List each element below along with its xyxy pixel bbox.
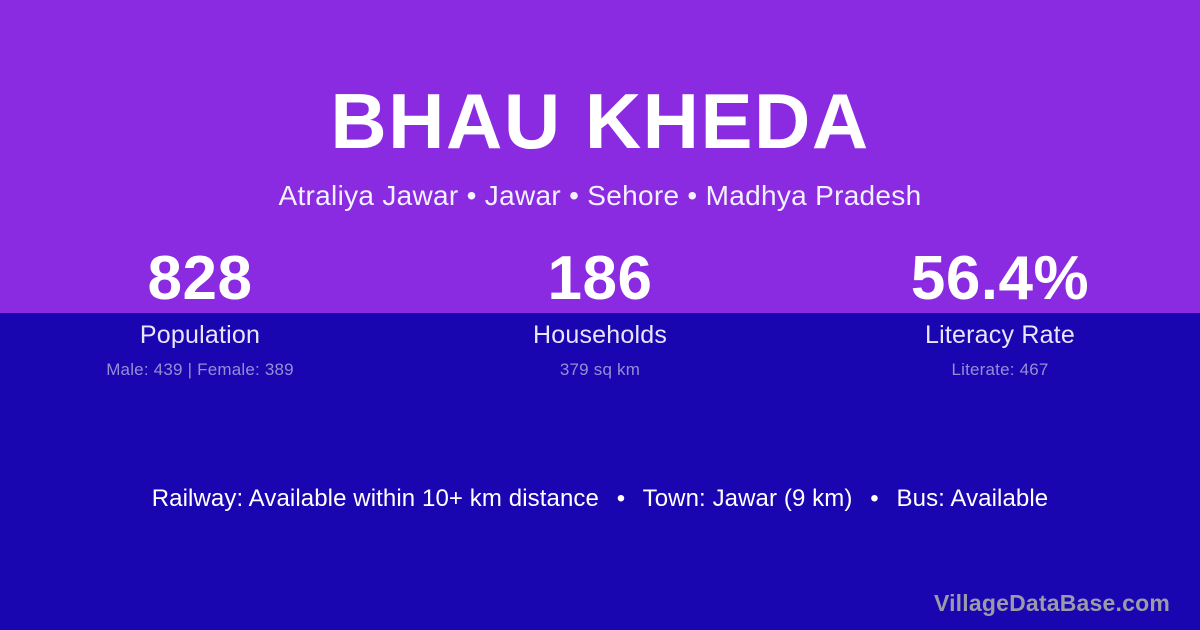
stat-value-households: 186 <box>400 248 800 314</box>
amenities-line: Railway: Available within 10+ km distanc… <box>0 485 1200 513</box>
village-info-card: BHAU KHEDA Atraliya Jawar • Jawar • Seho… <box>0 0 1200 630</box>
amenity-bus: Bus: Available <box>897 485 1049 512</box>
stat-value-literacy-rate: 56.4% <box>800 248 1200 314</box>
stat-population: 828 Population Male: 439 | Female: 389 <box>0 248 400 380</box>
stat-label-population: Population <box>0 321 400 350</box>
stat-detail-literacy-rate: Literate: 467 <box>800 360 1200 380</box>
page-title: BHAU KHEDA <box>0 0 1200 160</box>
stat-label-households: Households <box>400 321 800 350</box>
stat-label-literacy-rate: Literacy Rate <box>800 321 1200 350</box>
amenity-railway: Railway: Available within 10+ km distanc… <box>152 485 599 512</box>
stat-detail-population: Male: 439 | Female: 389 <box>0 360 400 380</box>
stat-value-population: 828 <box>0 248 400 314</box>
brand-watermark: VillageDataBase.com <box>934 590 1170 617</box>
amenity-town: Town: Jawar (9 km) <box>643 485 853 512</box>
stat-households: 186 Households 379 sq km <box>400 248 800 380</box>
bullet-separator-icon: • <box>606 485 637 513</box>
bullet-separator-icon: • <box>859 485 890 513</box>
stat-literacy-rate: 56.4% Literacy Rate Literate: 467 <box>800 248 1200 380</box>
breadcrumb: Atraliya Jawar • Jawar • Sehore • Madhya… <box>0 160 1200 212</box>
card-header: BHAU KHEDA Atraliya Jawar • Jawar • Seho… <box>0 0 1200 212</box>
stats-row: 828 Population Male: 439 | Female: 389 1… <box>0 248 1200 380</box>
stat-detail-households: 379 sq km <box>400 360 800 380</box>
